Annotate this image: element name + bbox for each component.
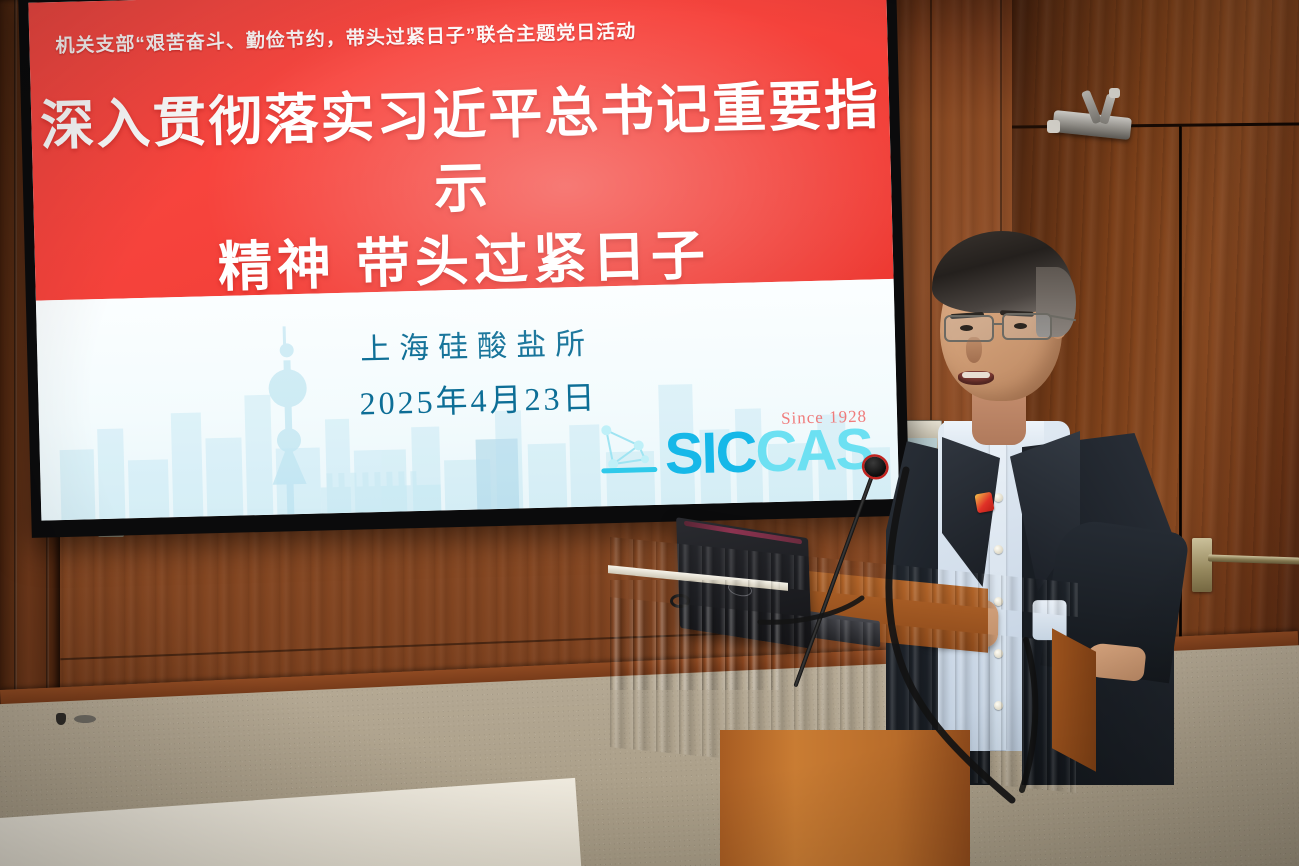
- teeth: [962, 372, 990, 378]
- door-escutcheon-right: [1192, 538, 1212, 592]
- logo-sic-text: SIC: [664, 425, 756, 481]
- siccas-logo-text: Since 1928 SIC CAS: [664, 406, 873, 481]
- eyeglass-bridge: [994, 323, 1004, 325]
- siccas-logo: Since 1928 SIC CAS: [598, 406, 873, 482]
- eyeglass-lens-right: [1002, 313, 1052, 340]
- slide-subtitle-block: 上海硅酸盐所 2025年4月23日: [267, 316, 689, 427]
- projection-screen: 机关支部“艰苦奋斗、勤俭节约，带头过紧日子”联合主题党日活动 深入贯彻落实习近平…: [18, 0, 910, 538]
- slide-title: 深入贯彻落实习近平总书记重要指示 精神 带头过紧日子: [31, 69, 894, 309]
- projection-screen-surface: 机关支部“艰苦奋斗、勤俭节约，带头过紧日子”联合主题党日活动 深入贯彻落实习近平…: [28, 0, 899, 521]
- eye-left: [960, 325, 973, 331]
- logo-cas-text: CAS: [755, 422, 873, 478]
- presentation-photo-scene: 机关支部“艰苦奋斗、勤俭节约，带头过紧日子”联合主题党日活动 深入贯彻落实习近平…: [0, 0, 1299, 866]
- mouth: [958, 371, 994, 385]
- pillar-groove: [14, 0, 17, 760]
- eye-right: [1014, 323, 1027, 329]
- logo-wordmark: SIC CAS: [664, 422, 872, 481]
- party-emblem-pin: [974, 492, 994, 514]
- floor-debris: [56, 713, 100, 727]
- lectern-base-column: [720, 730, 970, 866]
- molecule-node-icon: [598, 419, 662, 483]
- nose: [966, 337, 982, 363]
- slide-organization: 上海硅酸盐所: [267, 316, 688, 371]
- wooden-lectern: [600, 520, 1100, 866]
- slide-title-line1: 深入贯彻落实习近平总书记重要指示: [31, 69, 892, 236]
- door-closer-icon: [1047, 88, 1143, 140]
- shirt-button: [994, 493, 1003, 502]
- lectern-right-edge: [1052, 628, 1096, 771]
